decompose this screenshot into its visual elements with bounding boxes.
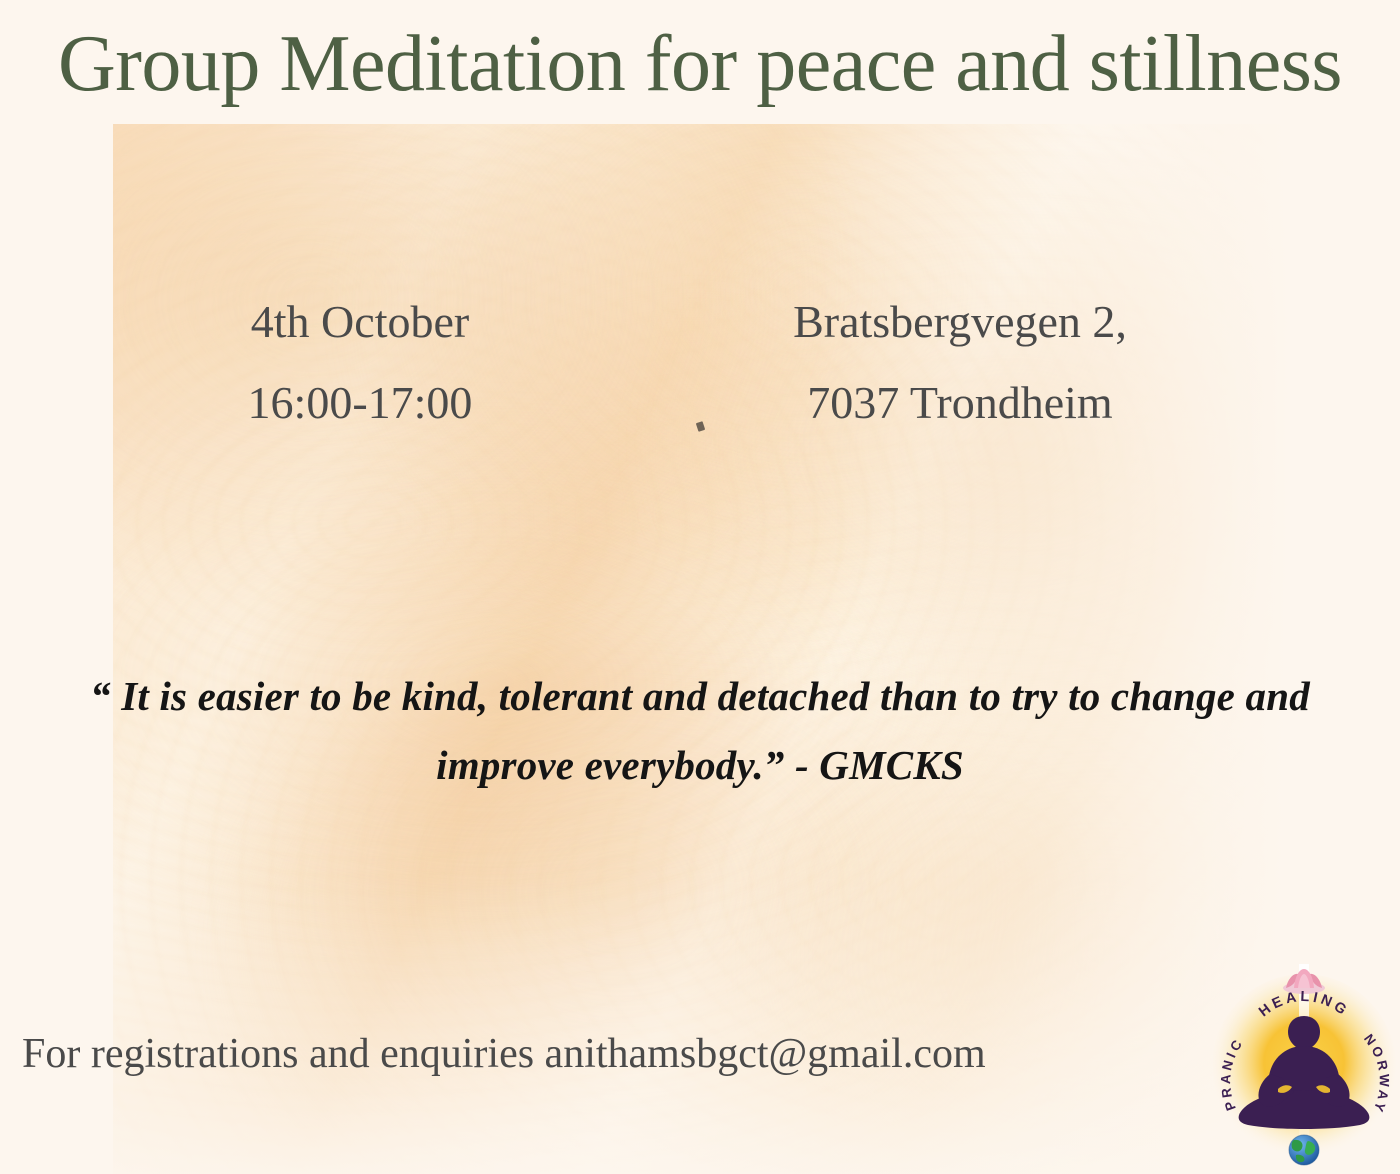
event-datetime-block: 4th October 16:00-17:00 — [210, 282, 510, 443]
event-address-line-1: Bratsbergvegen 2, — [720, 282, 1200, 363]
event-time: 16:00-17:00 — [210, 363, 510, 444]
poster-canvas: Group Meditation for peace and stillness… — [0, 0, 1400, 1174]
globe-icon — [1289, 1135, 1319, 1165]
stray-mark-artifact — [696, 421, 705, 432]
quote-line-1: “ It is easier to be kind, tolerant and … — [90, 673, 1100, 719]
event-date: 4th October — [210, 282, 510, 363]
contact-line[interactable]: For registrations and enquiries anithams… — [22, 1030, 986, 1078]
texture-swirl-3 — [673, 164, 1293, 724]
pranic-healing-norway-logo: HEALING PRANIC NORWAY — [1208, 958, 1400, 1174]
page-title: Group Meditation for peace and stillness — [0, 24, 1400, 104]
event-address-line-2: 7037 Trondheim — [720, 363, 1200, 444]
quote-text: “ It is easier to be kind, tolerant and … — [60, 662, 1340, 800]
event-address-block: Bratsbergvegen 2, 7037 Trondheim — [720, 282, 1200, 443]
